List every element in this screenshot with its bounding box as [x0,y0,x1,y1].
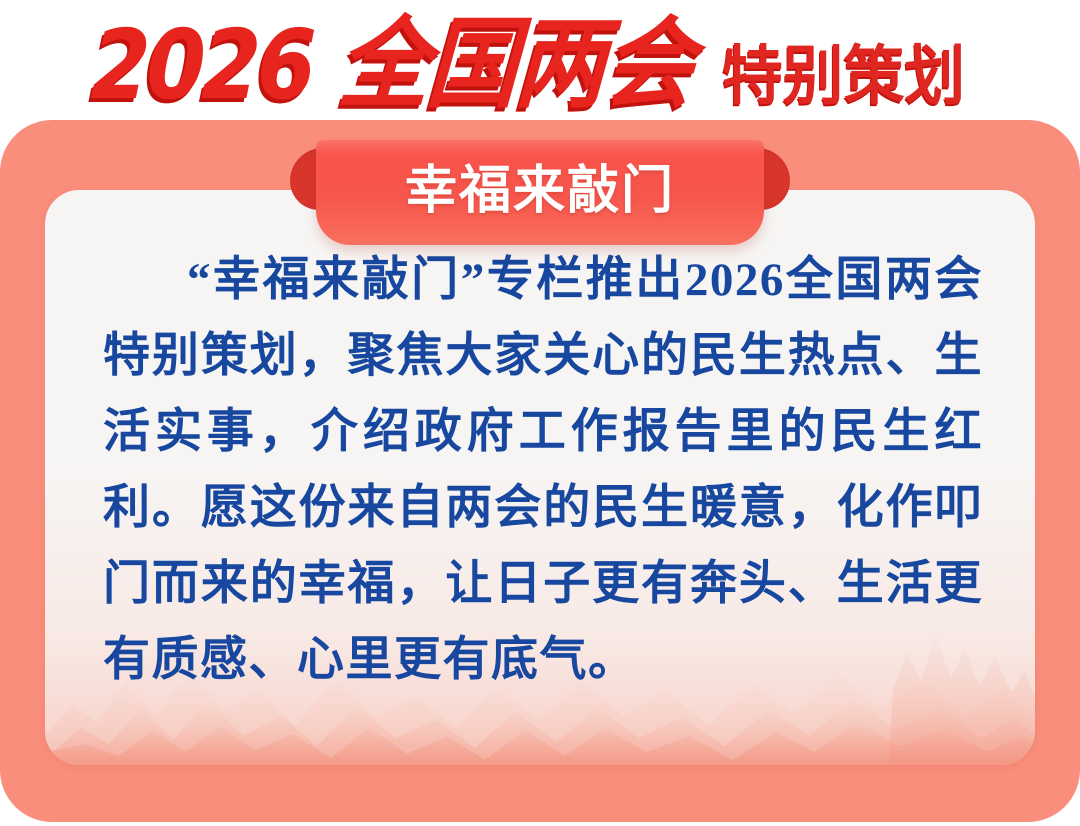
header-title-group: 2026 全国两会 特别策划 [90,15,977,114]
poster-header: 2026 全国两会 特别策划 [0,0,1080,122]
header-main-title: 全国两会 [336,15,694,114]
ribbon-label: 幸福来敲门 [405,165,675,217]
poster-root: 2026 全国两会 特别策划 [0,0,1080,826]
header-subtitle: 特别策划 [722,45,965,109]
content-card: “幸福来敲门”专栏推出2026全国两会特别策划，聚焦大家关心的民生热点、生活实事… [45,190,1035,765]
header-year: 2026 [90,17,314,113]
card-body-text: “幸福来敲门”专栏推出2026全国两会特别策划，聚焦大家关心的民生热点、生活实事… [103,242,983,698]
ribbon-banner: 幸福来敲门 [290,140,790,250]
ribbon-body: 幸福来敲门 [316,140,764,245]
